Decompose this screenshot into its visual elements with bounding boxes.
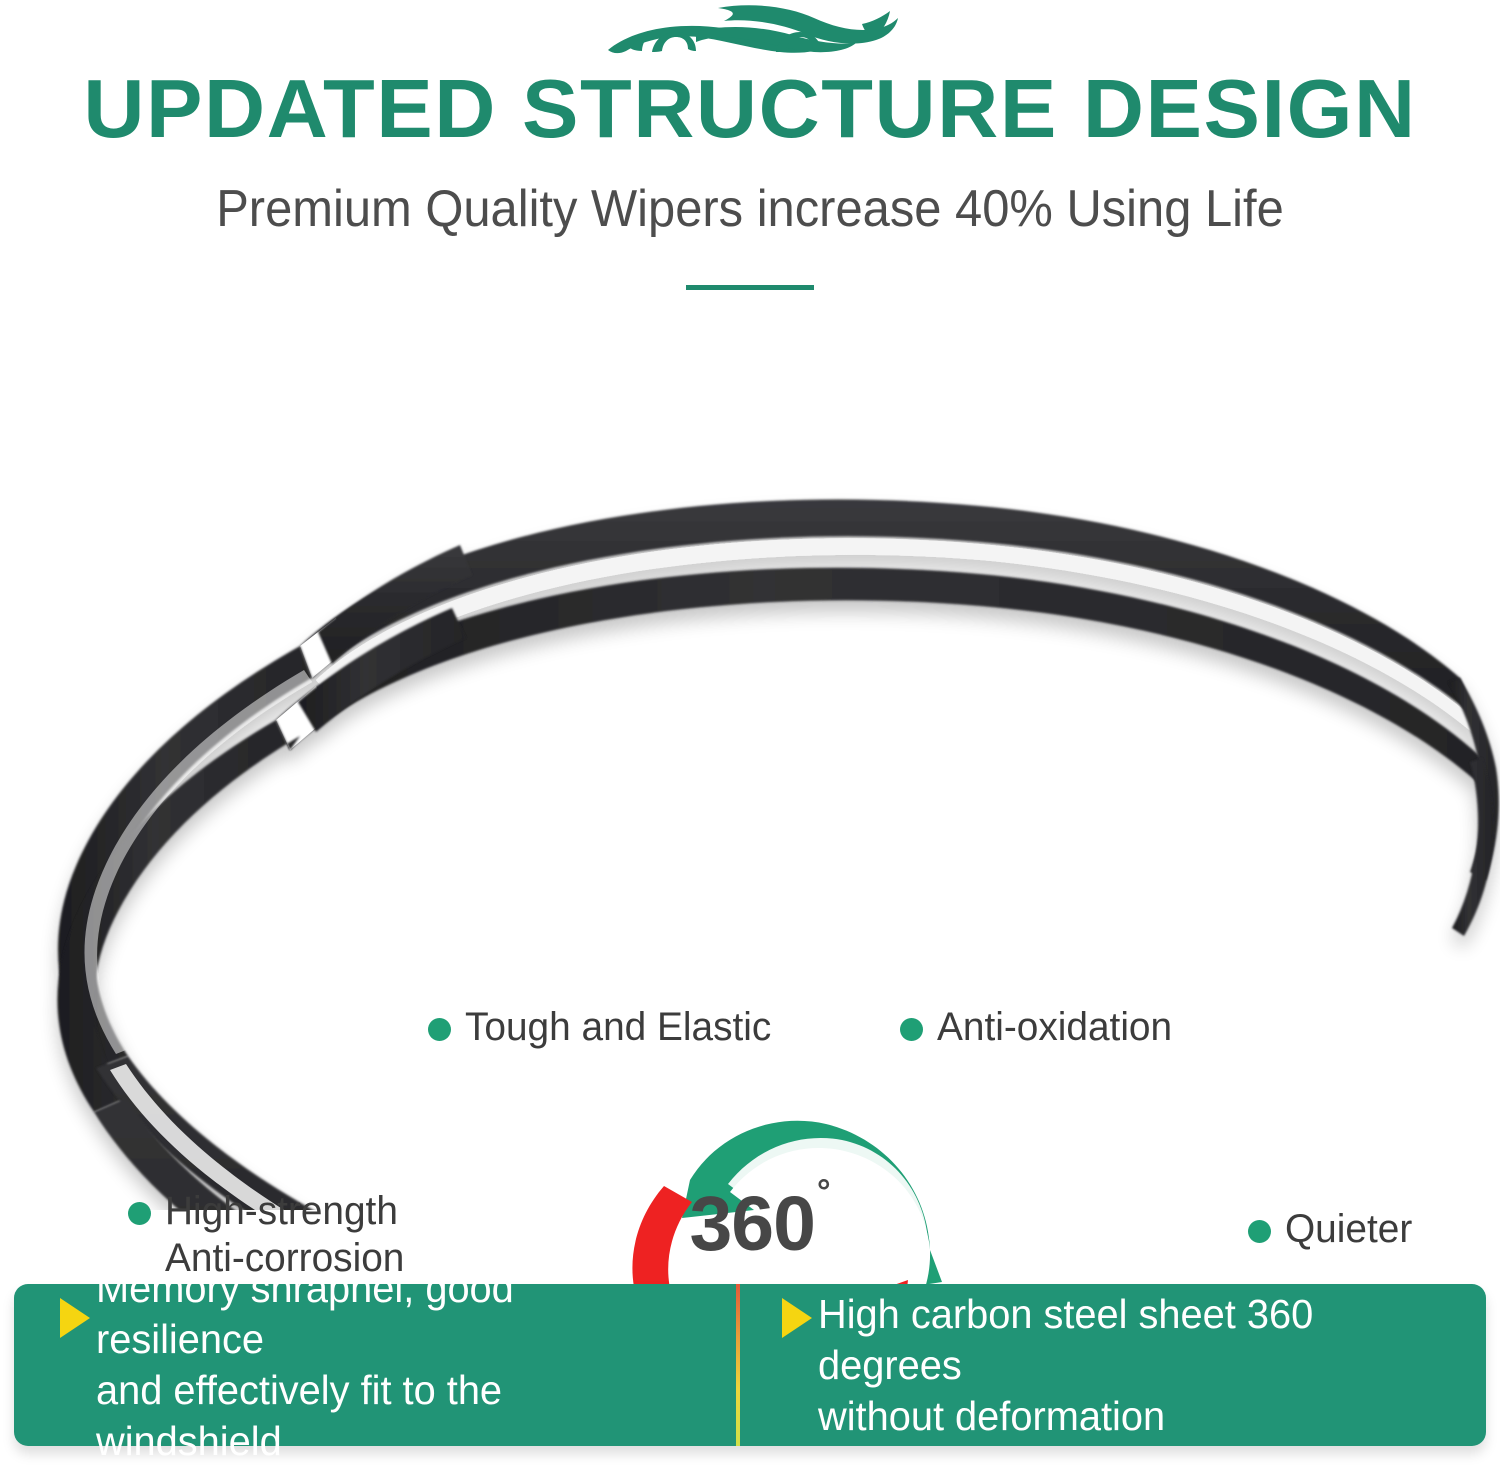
bullet-dot-icon — [900, 1018, 923, 1041]
callout-label: Anti-oxidation — [937, 1004, 1172, 1051]
feature-banner: Memory shrapnel, good resilience and eff… — [14, 1284, 1486, 1446]
callout-label: Quieter — [1285, 1206, 1412, 1253]
banner-panel-high-carbon-steel: High carbon steel sheet 360 degrees with… — [736, 1284, 1486, 1446]
bullet-dot-icon — [128, 1202, 151, 1225]
page-title: UPDATED STRUCTURE DESIGN — [0, 66, 1500, 152]
banner-line1: High carbon steel sheet 360 degrees — [818, 1289, 1441, 1391]
banner-line2: and effectively fit to the windshield — [96, 1365, 692, 1467]
title-underline-rule — [686, 285, 814, 290]
bullet-dot-icon — [428, 1018, 451, 1041]
callout-label: Tough and Elastic — [465, 1004, 771, 1051]
banner-text-group: Memory shrapnel, good resilience and eff… — [96, 1263, 692, 1467]
bullet-dot-icon — [1248, 1220, 1271, 1243]
banner-line1: Memory shrapnel, good resilience — [96, 1263, 692, 1365]
page-subtitle: Premium Quality Wipers increase 40% Usin… — [45, 178, 1455, 240]
callout-anti-oxidation: Anti-oxidation — [900, 1004, 1179, 1051]
callout-tough-and-elastic: Tough and Elastic — [428, 1004, 781, 1051]
product-image-stage: Tough and Elastic Anti-oxidation High-st… — [0, 420, 1500, 1210]
banner-text-group: High carbon steel sheet 360 degrees with… — [818, 1289, 1441, 1442]
steel-strip-illustration — [0, 420, 1500, 1210]
triangle-bullet-icon — [60, 1298, 90, 1338]
header: UPDATED STRUCTURE DESIGN Premium Quality… — [0, 0, 1500, 310]
car-silhouette-logo-icon — [600, 2, 900, 64]
banner-panel-memory-shrapnel: Memory shrapnel, good resilience and eff… — [14, 1284, 736, 1446]
callout-quieter: Quieter — [1248, 1206, 1416, 1253]
banner-line2: without deformation — [818, 1391, 1441, 1442]
callout-label-line1: High-strength — [165, 1188, 404, 1235]
triangle-bullet-icon — [782, 1298, 812, 1338]
